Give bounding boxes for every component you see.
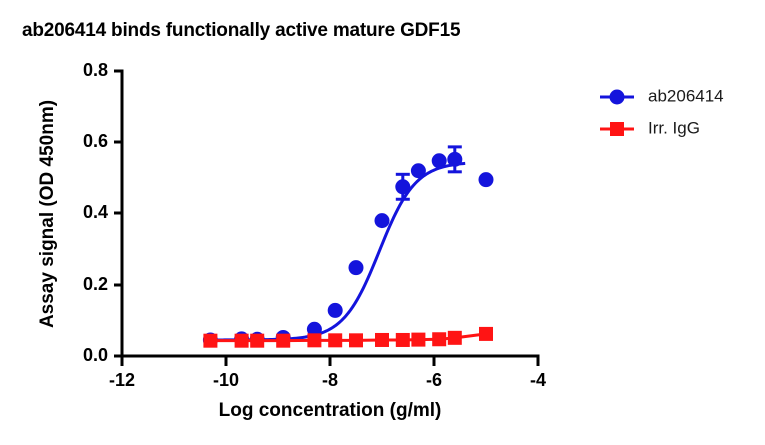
data-point (235, 334, 249, 348)
legend-marker-square-icon (610, 122, 624, 136)
y-tick-label: 0.0 (83, 345, 108, 365)
data-point (447, 152, 462, 167)
y-tick-label: 0.8 (83, 60, 108, 80)
data-point (432, 332, 446, 346)
data-point (375, 213, 390, 228)
data-point (349, 333, 363, 347)
data-point (411, 333, 425, 347)
data-point (203, 334, 217, 348)
y-axis-title: Assay signal (OD 450nm) (37, 100, 58, 328)
series-ab206414 (203, 147, 494, 348)
y-tick-label: 0.2 (83, 274, 108, 294)
data-point (432, 153, 447, 168)
chart-figure: Assay signal (OD 450nm) Log concentratio… (0, 0, 765, 445)
chart-legend: ab206414Irr. IgG (600, 86, 724, 137)
legend-label: Irr. IgG (648, 118, 700, 137)
data-point (328, 303, 343, 318)
x-tick-label: -8 (322, 370, 338, 390)
data-point (479, 327, 493, 341)
chart-plot-area: Assay signal (OD 450nm) Log concentratio… (0, 0, 765, 445)
legend-label: ab206414 (648, 86, 724, 105)
data-series-layer (203, 147, 494, 348)
x-tick-label: -4 (530, 370, 546, 390)
y-tick-label: 0.4 (83, 202, 108, 222)
data-point (307, 333, 321, 347)
legend-item-ab206414: ab206414 (600, 86, 724, 105)
data-point (448, 331, 462, 345)
legend-item-irr-igg: Irr. IgG (600, 118, 700, 137)
data-point (411, 163, 426, 178)
legend-marker-circle-icon (610, 90, 625, 105)
data-point (479, 172, 494, 187)
series-irr-igg (203, 327, 493, 348)
x-axis-title: Log concentration (g/ml) (219, 400, 442, 421)
x-tick-label: -10 (213, 370, 239, 390)
y-tick-label: 0.6 (83, 131, 108, 151)
data-point (375, 333, 389, 347)
x-tick-label: -12 (109, 370, 135, 390)
data-point (396, 333, 410, 347)
data-point (250, 334, 264, 348)
x-tick-label: -6 (426, 370, 442, 390)
data-point (276, 334, 290, 348)
x-axis-tick-labels: -12 -10 -8 -6 -4 (109, 370, 546, 390)
data-point (328, 333, 342, 347)
y-axis-tick-labels: 0.8 0.6 0.4 0.2 0.0 (83, 60, 108, 365)
data-point (395, 179, 410, 194)
data-point (349, 260, 364, 275)
